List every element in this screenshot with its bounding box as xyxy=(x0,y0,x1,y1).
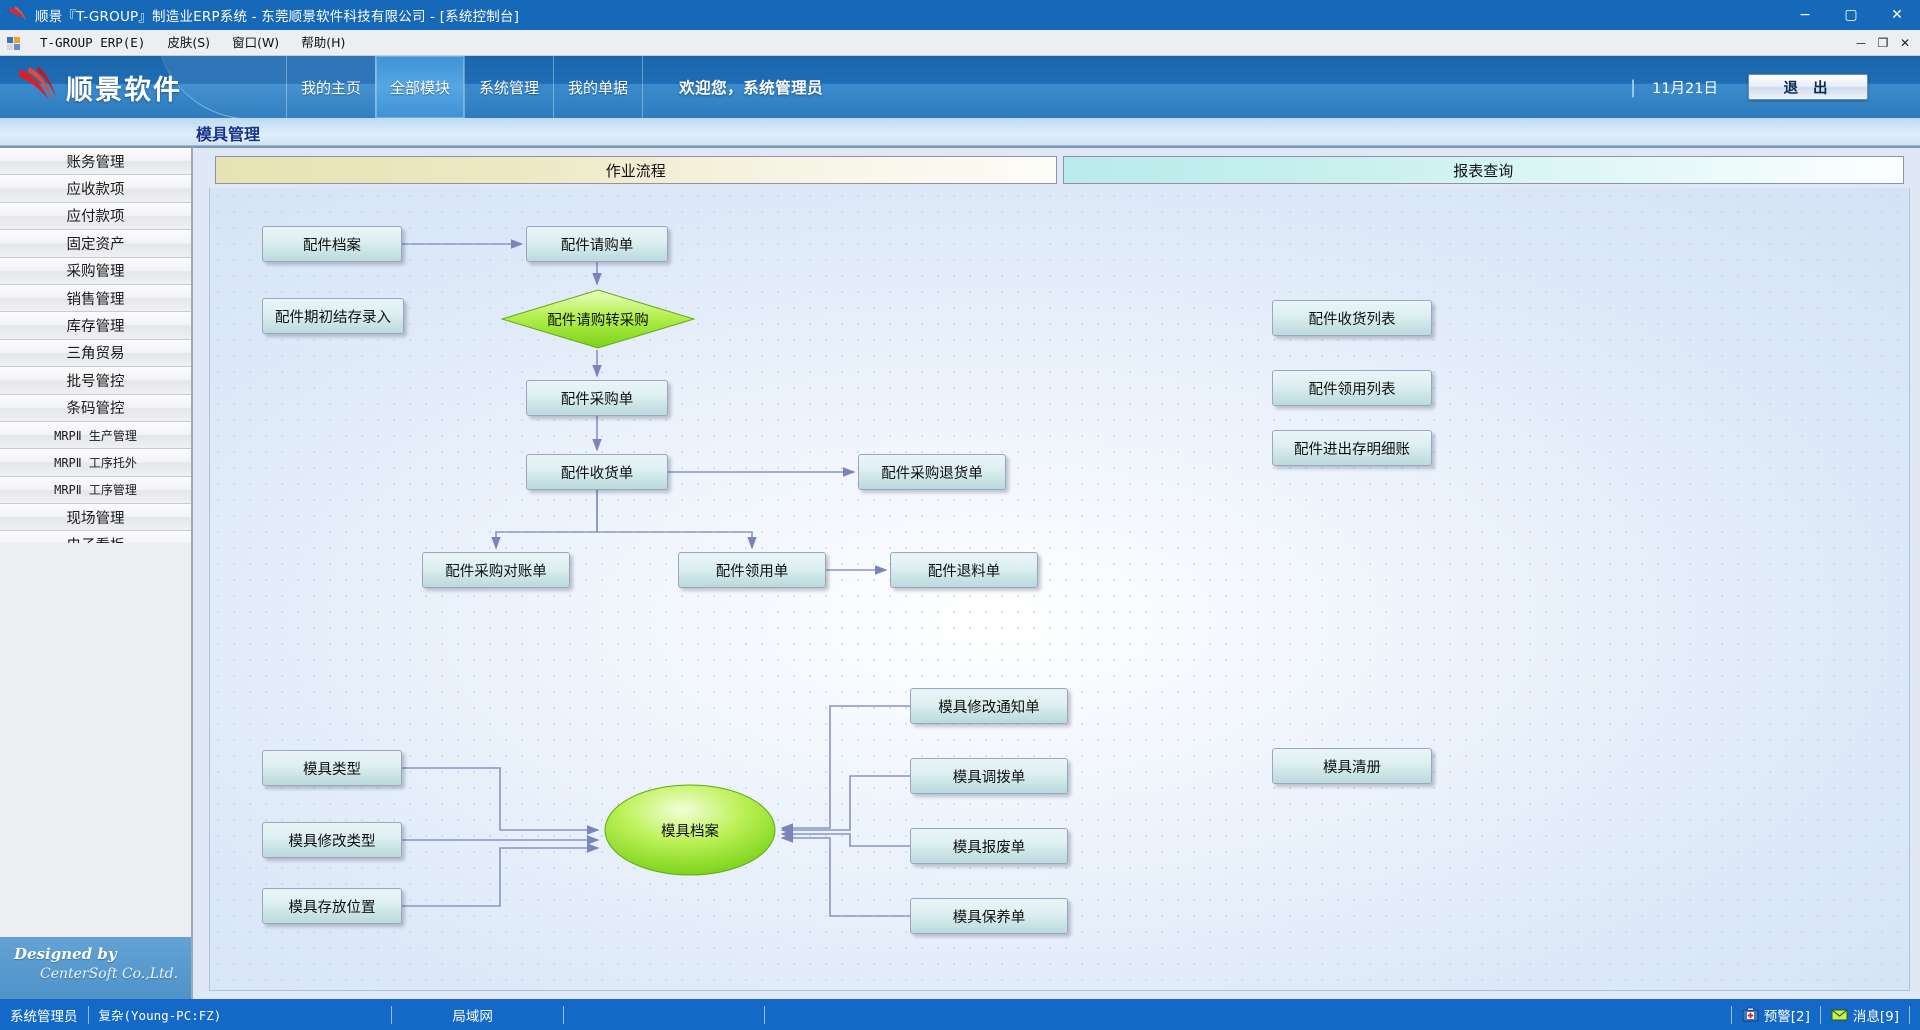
window-title-bar: 顺景『T-GROUP』制造业ERP系统 - 东莞顺景软件科技有限公司 - [系统… xyxy=(0,0,1920,30)
first-aid-kit-icon xyxy=(1742,1007,1759,1022)
flow-node-label: 模具修改类型 xyxy=(289,830,376,851)
flow-node-n9[interactable]: 配件领用单 xyxy=(678,552,826,588)
window-close-button[interactable]: ✕ xyxy=(1874,0,1920,30)
nav-item-home[interactable]: 我的主页 xyxy=(286,56,375,118)
menu-item-erp[interactable]: T-GROUP ERP(E) xyxy=(29,30,156,56)
menu-item-skin[interactable]: 皮肤(S) xyxy=(156,30,221,56)
status-divider-4 xyxy=(764,1006,765,1024)
status-divider-3 xyxy=(563,1006,564,1024)
flow-node-label: 配件采购单 xyxy=(561,388,634,409)
flow-node-n14[interactable]: 模具档案 xyxy=(602,782,778,878)
flow-node-n15[interactable]: 模具修改通知单 xyxy=(910,688,1068,724)
flow-node-label: 配件期初结存录入 xyxy=(275,306,391,327)
mdi-window-controls: － ❐ ✕ xyxy=(1850,30,1916,56)
flow-node-n12[interactable]: 模具修改类型 xyxy=(262,822,402,858)
flow-node-label: 模具存放位置 xyxy=(289,896,376,917)
message-indicator[interactable]: 消息[9] xyxy=(1821,999,1909,1030)
status-divider-7 xyxy=(1909,1006,1910,1024)
sidebar-item-label: 批号管控 xyxy=(67,370,125,391)
brand-area: 顺景软件 xyxy=(0,56,286,118)
header-date: 11月21日 xyxy=(1652,77,1718,98)
sidebar-item-label: 采购管理 xyxy=(67,260,125,281)
sidebar-item-1[interactable]: 应收款项 xyxy=(0,175,191,202)
flow-node-r3[interactable]: 配件进出存明细账 xyxy=(1272,430,1432,466)
status-bar: 系统管理员 复杂(Young-PC:FZ) 局域网 预警[2] xyxy=(0,999,1920,1030)
flow-node-n17[interactable]: 模具报废单 xyxy=(910,828,1068,864)
sidebar-item-12[interactable]: MRPⅡ 工序管理 xyxy=(0,477,191,504)
flow-node-n2[interactable]: 配件请购单 xyxy=(526,226,668,262)
mdi-close-button[interactable]: ✕ xyxy=(1894,30,1916,56)
sidebar-item-10[interactable]: MRPⅡ 生产管理 xyxy=(0,422,191,449)
flow-node-n16[interactable]: 模具调拨单 xyxy=(910,758,1068,794)
sidebar-footer: Designed by CenterSoft Co.,Ltd. xyxy=(0,937,191,999)
flow-node-label: 模具调拨单 xyxy=(953,766,1026,787)
flow-node-n10[interactable]: 配件退料单 xyxy=(890,552,1038,588)
flow-node-n4[interactable]: 配件请购转采购 xyxy=(500,288,696,350)
flow-node-n8[interactable]: 配件采购对账单 xyxy=(422,552,570,588)
sidebar-item-label: 现场管理 xyxy=(67,507,125,528)
sidebar-item-2[interactable]: 应付款项 xyxy=(0,203,191,230)
sidebar-item-label: MRPⅡ 工序管理 xyxy=(54,481,137,498)
sidebar-empty-space xyxy=(0,543,191,938)
flow-nodes-layer: 配件档案配件请购单配件期初结存录入配件请购转采购配件采购单配件收货单配件采购退货… xyxy=(210,188,1909,990)
designed-by-label: Designed by xyxy=(14,945,191,963)
sidebar-item-label: 销售管理 xyxy=(67,288,125,309)
sidebar-item-label: 应付款项 xyxy=(67,205,125,226)
tab-report-query[interactable]: 报表查询 xyxy=(1063,156,1905,184)
sidebar-item-5[interactable]: 销售管理 xyxy=(0,285,191,312)
mdi-minimize-button[interactable]: － xyxy=(1850,30,1872,56)
flow-node-label: 配件收货单 xyxy=(561,462,634,483)
sub-header: 模具管理 xyxy=(0,118,1920,146)
flow-node-label: 配件采购退货单 xyxy=(881,462,983,483)
sidebar-item-6[interactable]: 库存管理 xyxy=(0,312,191,339)
status-company: 复杂(Young-PC:FZ) xyxy=(89,999,232,1030)
company-credit-label: CenterSoft Co.,Ltd. xyxy=(14,966,191,982)
status-user: 系统管理员 xyxy=(0,999,88,1030)
flow-node-label: 模具清册 xyxy=(1323,756,1381,777)
menu-item-help[interactable]: 帮助(H) xyxy=(290,30,356,56)
header-right-area: | 11月21日 退 出 xyxy=(1630,56,1920,118)
welcome-message: 欢迎您，系统管理员 xyxy=(643,56,823,118)
flow-node-label: 配件请购单 xyxy=(561,234,634,255)
ellipse-shape xyxy=(602,782,778,878)
main-nav: 我的主页 全部模块 系统管理 我的单据 xyxy=(286,56,643,118)
status-right-area: 预警[2] 消息[9] xyxy=(1731,999,1920,1030)
flow-node-n5[interactable]: 配件采购单 xyxy=(526,380,668,416)
flow-tabs: 作业流程 报表查询 xyxy=(199,152,1914,184)
sidebar-item-0[interactable]: 账务管理 xyxy=(0,148,191,175)
window-minimize-button[interactable]: − xyxy=(1782,0,1828,30)
flow-node-label: 配件档案 xyxy=(303,234,361,255)
status-network: 局域网 xyxy=(392,999,503,1030)
flow-canvas: 配件档案配件请购单配件期初结存录入配件请购转采购配件采购单配件收货单配件采购退货… xyxy=(209,188,1910,991)
application-menu-bar: T-GROUP ERP(E) 皮肤(S) 窗口(W) 帮助(H) － ❐ ✕ xyxy=(0,30,1920,56)
flow-node-label: 配件领用列表 xyxy=(1309,378,1396,399)
alert-indicator[interactable]: 预警[2] xyxy=(1732,999,1820,1030)
sidebar-item-label: 电子看板 xyxy=(67,534,125,542)
sidebar-item-3[interactable]: 固定资产 xyxy=(0,230,191,257)
flow-node-n1[interactable]: 配件档案 xyxy=(262,226,402,262)
application-icon xyxy=(6,35,22,51)
nav-item-system-management[interactable]: 系统管理 xyxy=(464,56,553,118)
alert-label: 预警[2] xyxy=(1764,1005,1810,1025)
tab-work-flow[interactable]: 作业流程 xyxy=(215,156,1057,184)
header-separator: | xyxy=(1630,77,1636,98)
flow-node-label: 模具报废单 xyxy=(953,836,1026,857)
app-header: 顺景软件 我的主页 全部模块 系统管理 我的单据 欢迎您，系统管理员 | 11月… xyxy=(0,56,1920,118)
sidebar-item-label: 三角贸易 xyxy=(67,342,125,363)
sidebar-item-label: MRPⅡ 生产管理 xyxy=(54,427,137,444)
diamond-shape xyxy=(500,288,696,350)
sidebar-item-13[interactable]: 现场管理 xyxy=(0,504,191,531)
nav-item-my-documents[interactable]: 我的单据 xyxy=(553,56,643,118)
sidebar-item-9[interactable]: 条码管控 xyxy=(0,395,191,422)
flow-node-n11[interactable]: 模具类型 xyxy=(262,750,402,786)
sidebar-item-label: 应收款项 xyxy=(67,178,125,199)
flow-node-n13[interactable]: 模具存放位置 xyxy=(262,888,402,924)
app-body: 账务管理应收款项应付款项固定资产采购管理销售管理库存管理三角贸易批号管控条码管控… xyxy=(0,146,1920,999)
sidebar-module-list: 账务管理应收款项应付款项固定资产采购管理销售管理库存管理三角贸易批号管控条码管控… xyxy=(0,148,191,543)
brand-logo-icon xyxy=(14,65,60,109)
app-logo-icon xyxy=(7,5,29,25)
window-controls: − ▢ ✕ xyxy=(1782,0,1920,30)
window-title-text: 顺景『T-GROUP』制造业ERP系统 - 东莞顺景软件科技有限公司 - [系统… xyxy=(35,5,1782,25)
flow-node-label: 模具类型 xyxy=(303,758,361,779)
sidebar-item-label: 账务管理 xyxy=(67,151,125,172)
flow-node-label: 模具修改通知单 xyxy=(938,696,1040,717)
flow-node-label: 配件收货列表 xyxy=(1309,308,1396,329)
message-label: 消息[9] xyxy=(1853,1005,1899,1025)
flow-node-r4[interactable]: 模具清册 xyxy=(1272,748,1432,784)
sidebar-item-label: 条码管控 xyxy=(67,397,125,418)
flow-node-label: 配件退料单 xyxy=(928,560,1001,581)
envelope-icon xyxy=(1831,1007,1848,1022)
page-title: 模具管理 xyxy=(196,121,260,145)
window-maximize-button[interactable]: ▢ xyxy=(1828,0,1874,30)
sidebar-item-label: 库存管理 xyxy=(67,315,125,336)
flow-node-label: 配件进出存明细账 xyxy=(1294,438,1410,459)
flow-node-label: 配件领用单 xyxy=(716,560,789,581)
nav-item-all-modules[interactable]: 全部模块 xyxy=(375,56,464,118)
mdi-restore-button[interactable]: ❐ xyxy=(1872,30,1894,56)
flow-node-n7[interactable]: 配件采购退货单 xyxy=(858,454,1006,490)
flow-node-label: 配件采购对账单 xyxy=(445,560,547,581)
sidebar-item-4[interactable]: 采购管理 xyxy=(0,258,191,285)
menu-item-window[interactable]: 窗口(W) xyxy=(221,30,290,56)
flow-node-r1[interactable]: 配件收货列表 xyxy=(1272,300,1432,336)
logout-button[interactable]: 退 出 xyxy=(1748,74,1868,100)
sidebar-item-8[interactable]: 批号管控 xyxy=(0,367,191,394)
sidebar-item-11[interactable]: MRPⅡ 工序托外 xyxy=(0,449,191,476)
flow-node-n6[interactable]: 配件收货单 xyxy=(526,454,668,490)
sidebar: 账务管理应收款项应付款项固定资产采购管理销售管理库存管理三角贸易批号管控条码管控… xyxy=(0,146,193,999)
sidebar-item-14[interactable]: 电子看板 xyxy=(0,531,191,542)
main-content: 作业流程 报表查询 xyxy=(193,146,1920,999)
flow-node-n3[interactable]: 配件期初结存录入 xyxy=(262,298,404,334)
sidebar-item-7[interactable]: 三角贸易 xyxy=(0,340,191,367)
flow-node-n18[interactable]: 模具保养单 xyxy=(910,898,1068,934)
flow-node-r2[interactable]: 配件领用列表 xyxy=(1272,370,1432,406)
sidebar-item-label: MRPⅡ 工序托外 xyxy=(54,454,137,471)
sidebar-item-label: 固定资产 xyxy=(67,233,125,254)
flow-node-label: 模具保养单 xyxy=(953,906,1026,927)
brand-name-text: 顺景软件 xyxy=(66,68,182,107)
